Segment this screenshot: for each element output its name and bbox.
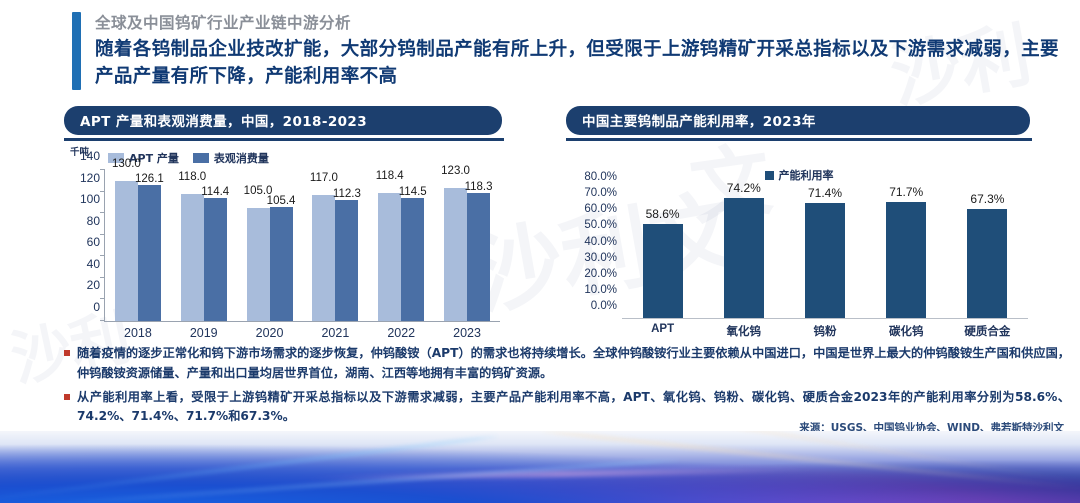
legend-label-apparent-consumption: 表观消费量 <box>214 150 269 166</box>
y-axis-tick-label: 60.0% <box>584 203 617 215</box>
bar[interactable]: 123.0 <box>444 188 467 321</box>
y-axis-tick-label: 60 <box>87 235 100 249</box>
y-axis-tick-label: 30.0% <box>584 252 617 264</box>
bar[interactable]: 114.4 <box>204 198 227 321</box>
y-axis-tick-label: 100 <box>80 192 100 206</box>
bar[interactable]: 105.0 <box>247 208 270 321</box>
bar-group: 117.0112.3 <box>302 170 368 321</box>
bullet-item: 随着疫情的逐步正常化和钨下游市场需求的逐步恢复，仲钨酸铵（APT）的需求也将持续… <box>64 344 1070 384</box>
bar-group: 118.0114.4 <box>171 170 237 321</box>
bar[interactable]: 67.3% <box>967 209 1007 318</box>
bar-group: 123.0118.3 <box>434 170 500 321</box>
bar-group: 130.0126.1 <box>105 170 171 321</box>
x-axis-tick-label: 2021 <box>302 321 368 340</box>
bar-value-label: 118.0 <box>178 171 206 183</box>
x-axis-tick-label: 钨粉 <box>784 318 865 339</box>
y-axis-tick-label: 0.0% <box>591 300 617 312</box>
left-title-rule <box>64 138 504 141</box>
left-plot-area: 020406080100120140130.0126.1118.0114.410… <box>104 170 500 322</box>
legend-item-apparent-consumption: 表观消费量 <box>193 150 269 166</box>
bar-value-label: 118.3 <box>465 181 493 193</box>
y-axis-tick-label: 20 <box>87 278 100 292</box>
y-axis-tick-label: 80 <box>87 214 100 228</box>
x-axis-tick-label: 硬质合金 <box>947 318 1028 339</box>
x-axis-tick-label: 2022 <box>368 321 434 340</box>
bar[interactable]: 130.0 <box>115 181 138 321</box>
bar-value-label: 67.3% <box>970 192 1004 206</box>
right-plot-area: 0.0%10.0%20.0%30.0%40.0%50.0%60.0%70.0%8… <box>622 189 1028 319</box>
legend-swatch-utilization <box>765 171 774 180</box>
bar[interactable]: 118.3 <box>467 193 490 321</box>
x-axis-labels: APT氧化钨钨粉碳化钨硬质合金 <box>622 318 1028 339</box>
bar[interactable]: 71.7% <box>886 202 926 318</box>
bar-groups: 130.0126.1118.0114.4105.0105.4117.0112.3… <box>105 170 500 321</box>
x-axis-tick-label: 氧化钨 <box>703 318 784 339</box>
left-chart-panel: APT 产量和表观消费量，中国，2018-2023 APT 产量 表观消费量 千… <box>64 106 504 322</box>
bar-groups: 58.6%74.2%71.4%71.7%67.3% <box>622 189 1028 318</box>
page-title: 随着各钨制品企业技改扩能，大部分钨制品产能有所上升，但受限于上游钨精矿开采总指标… <box>95 37 1070 90</box>
y-axis-tick-label: 120 <box>80 171 100 185</box>
left-chart-legend: APT 产量 表观消费量 <box>108 150 504 166</box>
decor-ray <box>623 431 1080 484</box>
bar-value-label: 71.7% <box>889 185 923 199</box>
bar-group: 67.3% <box>947 189 1028 318</box>
capacity-utilization-chart: 0.0%10.0%20.0%30.0%40.0%50.0%60.0%70.0%8… <box>566 189 1032 319</box>
right-title-rule <box>566 138 1032 141</box>
left-chart-title: APT 产量和表观消费量，中国，2018-2023 <box>64 106 502 135</box>
right-panel-header: 中国主要钨制品产能利用率，2023年 <box>566 106 1032 141</box>
x-axis-tick-label: 2023 <box>434 321 500 340</box>
bar-value-label: 114.4 <box>201 186 229 198</box>
bar-value-label: 126.1 <box>135 173 164 185</box>
bar[interactable]: 112.3 <box>335 200 358 321</box>
right-chart-legend: 产能利用率 <box>566 167 1032 183</box>
slide-header: 全球及中国钨矿行业产业链中游分析 随着各钨制品企业技改扩能，大部分钨制品产能有所… <box>72 12 1070 90</box>
x-axis-tick-label: 碳化钨 <box>866 318 947 339</box>
x-axis-tick-label: 2020 <box>237 321 303 340</box>
apt-output-consumption-chart: 千吨 020406080100120140130.0126.1118.0114.… <box>70 170 504 322</box>
bar-value-label: 118.4 <box>376 170 404 182</box>
y-axis-tick-label: 50.0% <box>584 219 617 231</box>
decor-ray <box>0 435 498 503</box>
right-chart-panel: 中国主要钨制品产能利用率，2023年 产能利用率 0.0%10.0%20.0%3… <box>566 106 1032 319</box>
legend-swatch-apparent-consumption <box>193 153 209 163</box>
x-axis-labels: 201820192020202120222023 <box>105 321 500 340</box>
bar-group: 74.2% <box>703 189 784 318</box>
bar[interactable]: 58.6% <box>643 224 683 318</box>
bar-value-label: 117.0 <box>310 172 338 184</box>
bar-value-label: 58.6% <box>646 207 680 221</box>
page-kicker: 全球及中国钨矿行业产业链中游分析 <box>95 12 1070 34</box>
bullet-list: 随着疫情的逐步正常化和钨下游市场需求的逐步恢复，仲钨酸铵（APT）的需求也将持续… <box>64 344 1070 431</box>
y-axis-tick-label: 20.0% <box>584 268 617 280</box>
y-axis-tick-label: 0 <box>93 300 100 314</box>
bullet-marker-icon <box>64 350 70 356</box>
bar-group: 71.7% <box>866 189 947 318</box>
legend-label-utilization: 产能利用率 <box>779 167 834 183</box>
bar-value-label: 123.0 <box>441 165 470 177</box>
x-axis-tick-label: APT <box>622 318 703 339</box>
bar-value-label: 112.3 <box>333 188 361 200</box>
bar-group: 71.4% <box>784 189 865 318</box>
bullet-marker-icon <box>64 394 70 400</box>
decorative-footer-band <box>0 431 1080 503</box>
y-axis-tick-label: 10.0% <box>584 284 617 296</box>
bar-value-label: 114.5 <box>399 186 427 198</box>
bar-group: 58.6% <box>622 189 703 318</box>
bar-value-label: 105.4 <box>267 195 296 207</box>
bullet-text: 随着疫情的逐步正常化和钨下游市场需求的逐步恢复，仲钨酸铵（APT）的需求也将持续… <box>77 344 1070 384</box>
bar-value-label: 71.4% <box>808 186 842 200</box>
bar[interactable]: 71.4% <box>805 203 845 318</box>
y-axis-tick-label: 40.0% <box>584 236 617 248</box>
left-panel-header: APT 产量和表观消费量，中国，2018-2023 <box>64 106 504 141</box>
right-chart-title: 中国主要钨制品产能利用率，2023年 <box>566 106 1030 135</box>
y-axis-tick-label: 70.0% <box>584 187 617 199</box>
bar-value-label: 74.2% <box>727 181 761 195</box>
bar[interactable]: 74.2% <box>724 198 764 318</box>
bar[interactable]: 117.0 <box>312 195 335 321</box>
x-axis-tick-label: 2018 <box>105 321 171 340</box>
bar-group: 105.0105.4 <box>237 170 303 321</box>
accent-bar <box>72 12 81 90</box>
y-axis-tick-label: 140 <box>80 149 100 163</box>
y-axis-tick-label: 80.0% <box>584 171 617 183</box>
bar[interactable]: 114.5 <box>401 198 424 321</box>
decor-ray <box>0 459 679 503</box>
legend-item-utilization: 产能利用率 <box>765 167 834 183</box>
bar-group: 118.4114.5 <box>368 170 434 321</box>
bar-value-label: 130.0 <box>112 158 141 170</box>
x-axis-tick-label: 2019 <box>171 321 237 340</box>
y-axis-tick-label: 40 <box>87 257 100 271</box>
bar[interactable]: 118.4 <box>378 193 401 321</box>
bar[interactable]: 118.0 <box>181 194 204 321</box>
bar[interactable]: 105.4 <box>270 207 293 321</box>
bar[interactable]: 126.1 <box>138 185 161 321</box>
